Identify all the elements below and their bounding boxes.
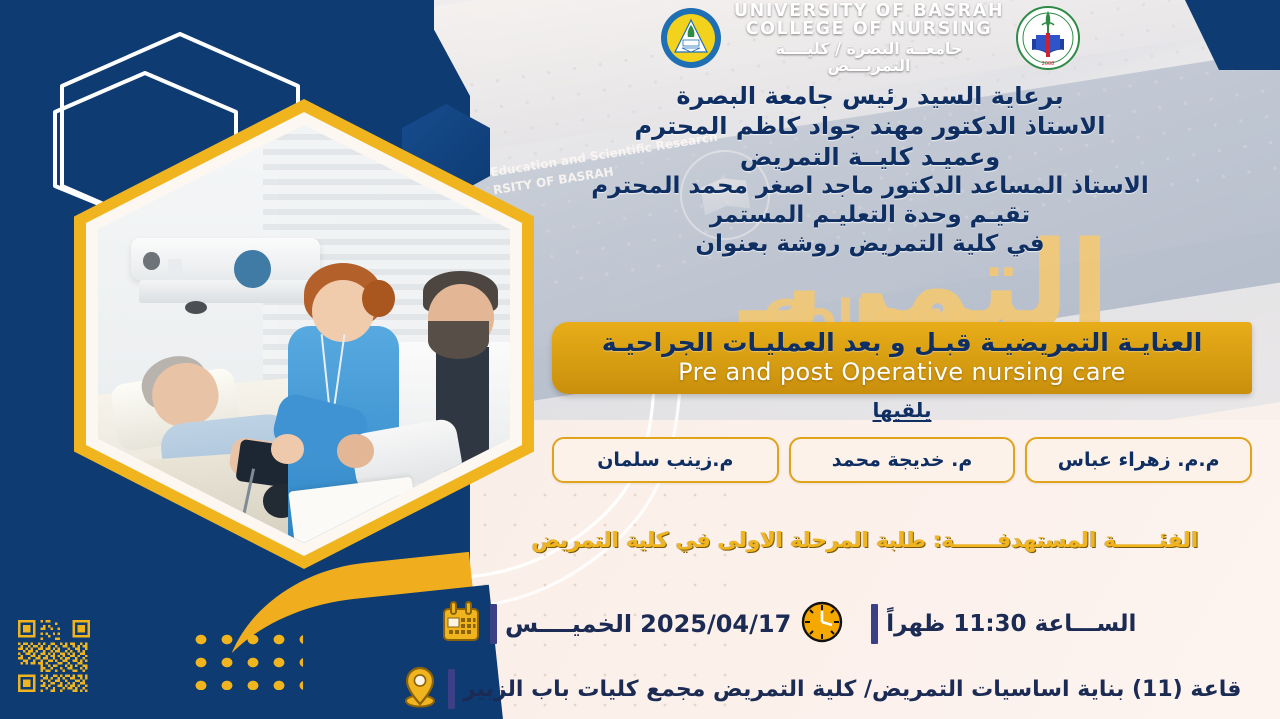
title-banner: العنايـة التمريضيـة قبـل و بعد العمليـات… (552, 322, 1252, 394)
intro-line-1: برعاية السيد رئيس جامعة البصرة (470, 82, 1270, 110)
calendar-icon (440, 600, 482, 648)
location-pin-icon (400, 665, 440, 713)
intro-line-4: الاستاذ المساعد الدكتور ماجد اصغر محمد ا… (470, 173, 1270, 200)
university-titles: UNIVERSITY OF BASRAH COLLEGE OF NURSING … (732, 2, 1006, 75)
speaker-pill[interactable]: م. خديجة محمد (789, 437, 1016, 483)
event-location-row: قاعة (11) بناية اساسيات التمريض/ كلية ال… (400, 664, 1270, 714)
intro-line-5: تقيـم وحدة التعليـم المستمر (470, 202, 1270, 229)
event-time: الســـاعة 11:30 ظهراً (886, 611, 1136, 637)
dot-grid (188, 628, 303, 690)
presented-by-label: يلقيها (552, 398, 1252, 422)
speaker-pill[interactable]: م.م. زهراء عباس (1025, 437, 1252, 483)
location-divider-bar (448, 669, 455, 709)
svg-text:2008: 2008 (1042, 61, 1055, 67)
clock-icon (799, 599, 845, 649)
speakers-list: م.زينب سلمان م. خديجة محمد م.م. زهراء عب… (552, 437, 1252, 483)
intro-text-block: برعاية السيد رئيس جامعة البصرة الاستاذ ا… (470, 82, 1270, 260)
university-of-basrah-seal-icon (660, 7, 722, 69)
event-datetime-row: الخميــــس 2025/04/17 الســـاعة 11:30 ظه… (440, 596, 1270, 652)
hexagon-photo-frame (74, 99, 534, 569)
event-location: قاعة (11) بناية اساسيات التمريض/ كلية ال… (463, 677, 1241, 702)
college-of-nursing-seal-icon: 2008 (1016, 5, 1080, 71)
title-english: Pre and post Operative nursing care (678, 358, 1126, 387)
poster-root: التمريـ College Education and Scientific… (0, 0, 1280, 719)
university-name-line2: COLLEGE OF NURSING (732, 20, 1006, 39)
intro-line-3: وعميـد كليــة التمريض (470, 143, 1270, 171)
poster-header: UNIVERSITY OF BASRAH COLLEGE OF NURSING … (660, 2, 1080, 74)
title-arabic: العنايـة التمريضيـة قبـل و بعد العمليـات… (602, 329, 1203, 357)
university-name-line1: UNIVERSITY OF BASRAH (732, 2, 1006, 21)
date-divider-bar (490, 604, 497, 644)
event-date: 2025/04/17 (640, 610, 791, 638)
event-day: الخميــــس (505, 610, 632, 638)
qr-code[interactable] (18, 620, 90, 692)
speaker-pill[interactable]: م.زينب سلمان (552, 437, 779, 483)
intro-line-6: في كلية التمريض روشة بعنوان (470, 231, 1270, 258)
time-divider-bar (871, 604, 878, 644)
intro-line-2: الاستاذ الدكتور مهند جواد كاظم المحترم (470, 112, 1270, 140)
target-audience-text: الفئــــــة المستهدفــــــة: طلبة المرحل… (470, 528, 1260, 552)
university-name-arabic: جامعــة البصرة / كليــــة التمريـــض (732, 41, 1006, 75)
